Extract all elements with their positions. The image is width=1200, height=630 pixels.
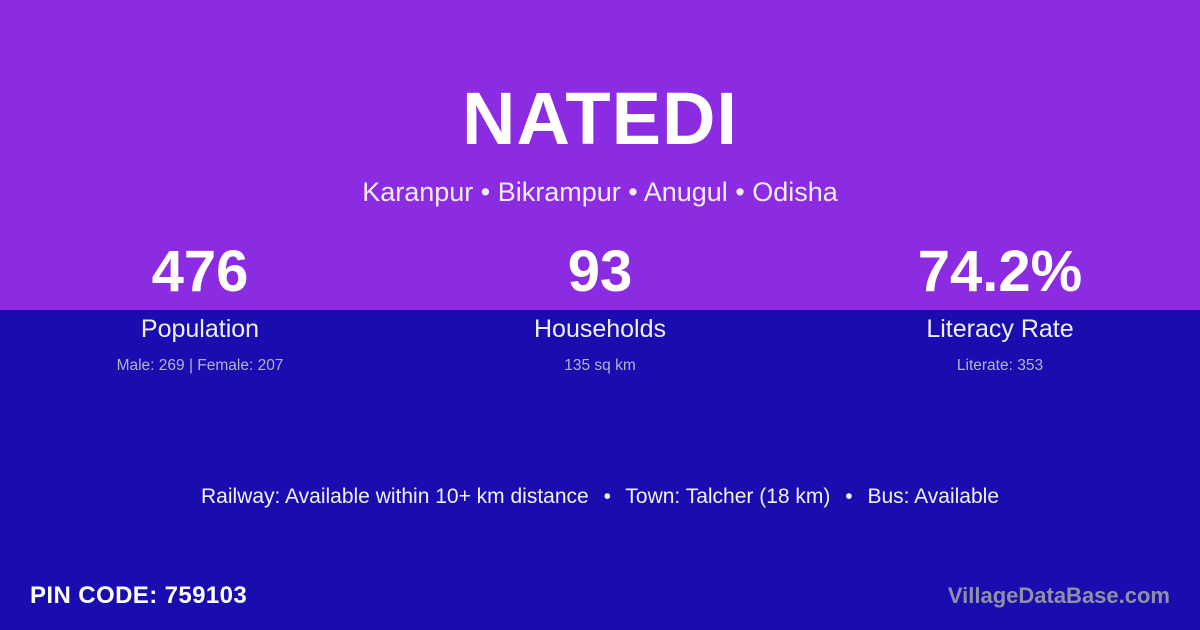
- pin-code-label: PIN CODE: 759103: [30, 584, 247, 608]
- stat-population: 476 Population Male: 269 | Female: 207: [0, 243, 400, 374]
- amenity-separator: •: [836, 485, 861, 508]
- stat-value: 476: [0, 243, 400, 305]
- stat-value: 93: [400, 243, 800, 305]
- stat-sub: Male: 269 | Female: 207: [0, 342, 400, 374]
- amenity-railway: Railway: Available within 10+ km distanc…: [201, 485, 589, 508]
- site-brand: VillageDataBase.com: [948, 585, 1170, 607]
- stat-label: Literacy Rate: [800, 305, 1200, 342]
- amenity-town: Town: Talcher (18 km): [625, 485, 830, 508]
- stat-literacy-rate: 74.2% Literacy Rate Literate: 353: [800, 243, 1200, 374]
- breadcrumb: Karanpur • Bikrampur • Anugul • Odisha: [0, 156, 1200, 206]
- stat-label: Population: [0, 305, 400, 342]
- stat-label: Households: [400, 305, 800, 342]
- amenities-row: Railway: Available within 10+ km distanc…: [0, 486, 1200, 507]
- stat-sub: 135 sq km: [400, 342, 800, 374]
- stat-households: 93 Households 135 sq km: [400, 243, 800, 374]
- stats-row: 476 Population Male: 269 | Female: 207 9…: [0, 243, 1200, 374]
- card-footer: PIN CODE: 759103 VillageDataBase.com: [0, 573, 1200, 618]
- amenity-bus: Bus: Available: [867, 485, 999, 508]
- card-header: NATEDI Karanpur • Bikrampur • Anugul • O…: [0, 0, 1200, 206]
- page-title: NATEDI: [0, 0, 1200, 156]
- stat-sub: Literate: 353: [800, 342, 1200, 374]
- amenity-separator: •: [595, 485, 620, 508]
- village-info-card: NATEDI Karanpur • Bikrampur • Anugul • O…: [0, 0, 1200, 630]
- stat-value: 74.2%: [800, 243, 1200, 305]
